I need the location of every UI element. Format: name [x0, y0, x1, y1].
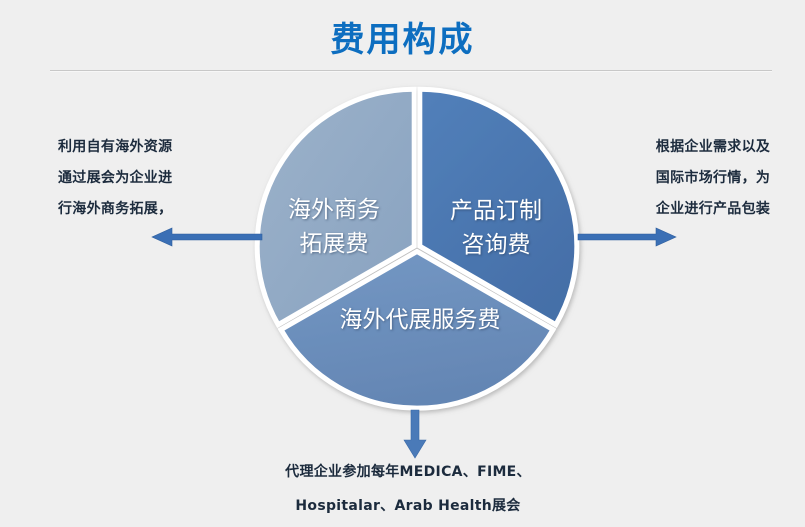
callout-right-line-3: 企业进行产品包装 [630, 194, 796, 225]
pie-chart: 海外商务拓展费 产品订制咨询费 海外代展服务费 [254, 81, 580, 407]
diagram-canvas: 费用构成 [0, 0, 805, 527]
callout-left-line-2: 通过展会为企业进 [58, 163, 210, 194]
callout-right: 根据企业需求以及 国际市场行情，为 企业进行产品包装 [630, 132, 796, 225]
arrow-right-shape [578, 228, 676, 246]
callout-left-line-3: 行海外商务拓展， [58, 194, 210, 225]
callout-right-line-2: 国际市场行情，为 [630, 163, 796, 194]
title-divider [50, 70, 772, 71]
arrow-left-icon [150, 226, 262, 248]
callout-right-line-1: 根据企业需求以及 [630, 132, 796, 163]
callout-bottom: 代理企业参加每年MEDICA、FIME、 Hospitalar、Arab Hea… [238, 455, 578, 523]
arrow-right-icon [578, 226, 678, 248]
callout-bottom-line-1: 代理企业参加每年MEDICA、FIME、 [238, 455, 578, 489]
callout-left-line-1: 利用自有海外资源 [58, 132, 210, 163]
arrow-down-shape [404, 410, 426, 458]
arrow-down-icon [400, 410, 430, 460]
callout-bottom-line-2: Hospitalar、Arab Health展会 [238, 489, 578, 523]
callout-left: 利用自有海外资源 通过展会为企业进 行海外商务拓展， [58, 132, 210, 225]
arrow-left-shape [152, 228, 262, 246]
page-title: 费用构成 [0, 18, 805, 62]
